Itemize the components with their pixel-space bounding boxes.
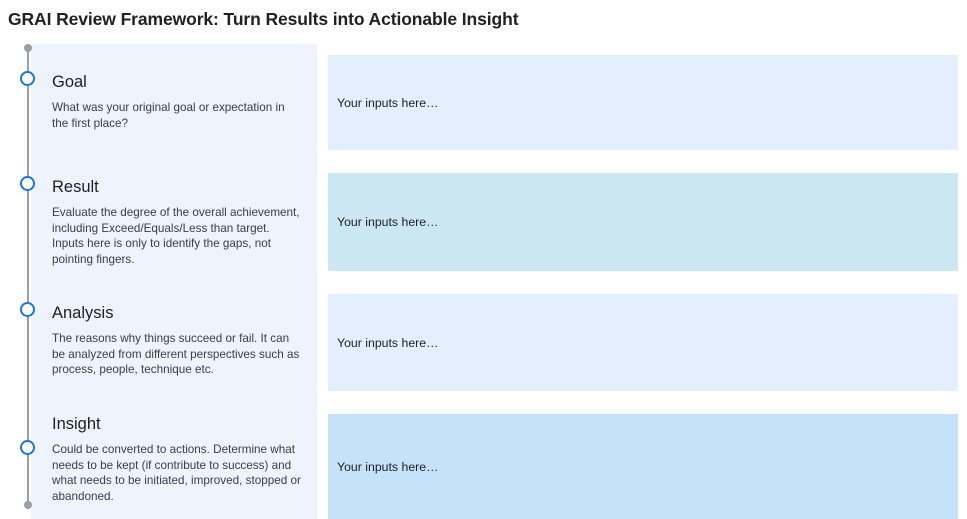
timeline-node-goal-icon[interactable] <box>20 71 35 86</box>
timeline-node-analysis-icon[interactable] <box>20 302 35 317</box>
step-result-description: Evaluate the degree of the overall achie… <box>52 205 302 267</box>
step-goal-title: Goal <box>52 72 310 92</box>
input-card-goal-placeholder: Your inputs here… <box>328 96 438 110</box>
timeline-node-insight-icon[interactable] <box>20 440 35 455</box>
step-analysis-title: Analysis <box>52 303 310 323</box>
step-goal[interactable]: Goal What was your original goal or expe… <box>52 72 310 131</box>
input-card-insight[interactable]: Your inputs here… <box>328 414 958 519</box>
timeline-node-result-icon[interactable] <box>20 176 35 191</box>
timeline-line <box>27 48 29 505</box>
step-analysis[interactable]: Analysis The reasons why things succeed … <box>52 303 310 378</box>
step-result[interactable]: Result Evaluate the degree of the overal… <box>52 177 310 267</box>
step-analysis-description: The reasons why things succeed or fail. … <box>52 331 302 378</box>
input-card-analysis-placeholder: Your inputs here… <box>328 336 438 350</box>
input-card-result[interactable]: Your inputs here… <box>328 173 958 271</box>
step-result-title: Result <box>52 177 310 197</box>
input-card-goal[interactable]: Your inputs here… <box>328 55 958 150</box>
input-card-result-placeholder: Your inputs here… <box>328 215 438 229</box>
step-insight[interactable]: Insight Could be converted to actions. D… <box>52 414 310 504</box>
input-card-insight-placeholder: Your inputs here… <box>328 460 438 474</box>
step-insight-title: Insight <box>52 414 310 434</box>
step-insight-description: Could be converted to actions. Determine… <box>52 442 302 504</box>
input-card-analysis[interactable]: Your inputs here… <box>328 294 958 391</box>
page-title: GRAI Review Framework: Turn Results into… <box>8 9 518 30</box>
step-goal-description: What was your original goal or expectati… <box>52 100 302 131</box>
